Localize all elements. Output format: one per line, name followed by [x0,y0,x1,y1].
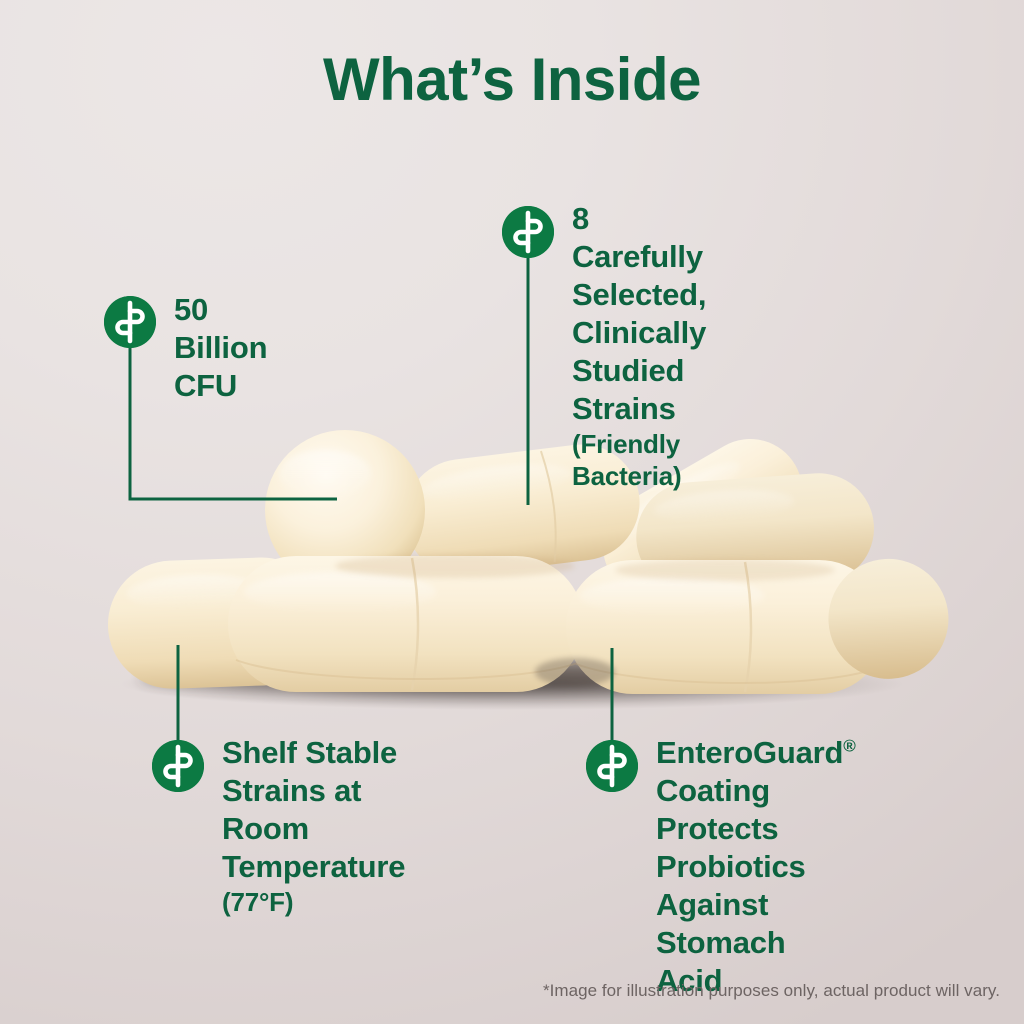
callout-enteroguard-heading: EnteroGuard® Coating Protects Probiotics… [656,734,856,1000]
gut-icon [502,206,554,258]
callout-shelf-subtext: (77°F) [222,886,405,918]
callout-strains-text: 8 Carefully Selected, Clinically Studied… [572,200,706,492]
gut-icon [586,740,638,792]
callout-shelf-text: Shelf Stable Strains at Room Temperature… [222,734,405,918]
gut-icon [152,740,204,792]
gut-icon [104,296,156,348]
callout-strains-heading: 8 Carefully Selected, Clinically Studied… [572,200,706,428]
callout-enteroguard-brand: EnteroGuard [656,735,843,770]
callout-cfu-heading: 50 Billion CFU [174,291,267,405]
registered-mark: ® [843,737,855,756]
callout-shelf-heading: Shelf Stable Strains at Room Temperature [222,734,405,886]
callout-cfu-text: 50 Billion CFU [174,291,267,405]
footer-disclaimer: *Image for illustration purposes only, a… [543,980,1000,1002]
callout-enteroguard-rest: Coating Protects Probiotics Against Stom… [656,773,806,998]
callout-enteroguard-text: EnteroGuard® Coating Protects Probiotics… [656,734,856,1000]
callout-strains-subtext: (Friendly Bacteria) [572,428,706,492]
leader-lines [0,0,1024,1024]
infographic-canvas: What’s Inside [0,0,1024,1024]
